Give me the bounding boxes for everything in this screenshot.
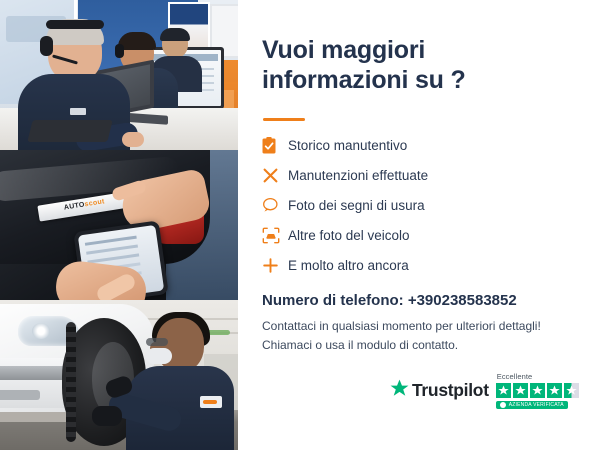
- trustpilot-stars: [496, 383, 581, 398]
- trustpilot-widget[interactable]: Trustpilot Eccellente: [390, 372, 581, 409]
- list-item-label: Foto dei segni di usura: [288, 198, 425, 213]
- speech-bubble-icon: [262, 197, 288, 213]
- list-item: Altre foto del veicolo: [262, 222, 582, 248]
- tire-service-photo: [0, 300, 238, 450]
- trustpilot-star-icon: [390, 379, 409, 403]
- list-item: Storico manutentivo: [262, 132, 582, 158]
- heading-line-2: informazioni su ?: [262, 66, 477, 96]
- tools-cross-icon: [262, 167, 288, 184]
- feature-list: Storico manutentivo Manutenzioni effettu…: [262, 132, 582, 282]
- trustpilot-name: Trustpilot: [412, 380, 489, 401]
- call-center-photo: [0, 0, 238, 150]
- photo-column: AUTOscout: [0, 0, 238, 450]
- trustpilot-logo: Trustpilot: [390, 379, 489, 403]
- list-item-label: Altre foto del veicolo: [288, 228, 410, 243]
- star-filled-icon: [513, 383, 528, 398]
- plus-icon: [262, 257, 288, 274]
- status-badge: AZIENDA VERIFICATA: [496, 401, 568, 409]
- list-item-label: E molto altro ancora: [288, 258, 409, 273]
- list-item: Foto dei segni di usura: [262, 192, 582, 218]
- phone-number: Numero di telefono: +390238583852: [262, 292, 517, 309]
- list-item-label: Manutenzioni effettuate: [288, 168, 428, 183]
- star-filled-icon: [496, 383, 511, 398]
- title-underline: [263, 118, 305, 121]
- contact-text-line-1: Contattaci in qualsiasi momento per ulte…: [262, 319, 541, 333]
- car-photo-frame-icon: [262, 227, 288, 244]
- heading-line-1: Vuoi maggiori: [262, 36, 477, 66]
- plate-inspection-photo: AUTOscout: [0, 150, 238, 300]
- star-half-icon: [564, 383, 579, 398]
- list-item: E molto altro ancora: [262, 252, 582, 278]
- trustpilot-rating-label: Eccellente: [497, 372, 533, 381]
- promo-banner: AUTOscout: [0, 0, 600, 450]
- contact-text-line-2: Chiamaci o usa il modulo di contatto.: [262, 338, 458, 352]
- list-item-label: Storico manutentivo: [288, 138, 407, 153]
- page-title: Vuoi maggiori informazioni su ?: [262, 36, 477, 95]
- star-filled-icon: [547, 383, 562, 398]
- list-item: Manutenzioni effettuate: [262, 162, 582, 188]
- verified-check-icon: [500, 402, 506, 408]
- star-filled-icon: [530, 383, 545, 398]
- clipboard-check-icon: [262, 137, 288, 154]
- verified-label: AZIENDA VERIFICATA: [509, 402, 564, 408]
- info-panel: Vuoi maggiori informazioni su ? Storico …: [238, 0, 600, 450]
